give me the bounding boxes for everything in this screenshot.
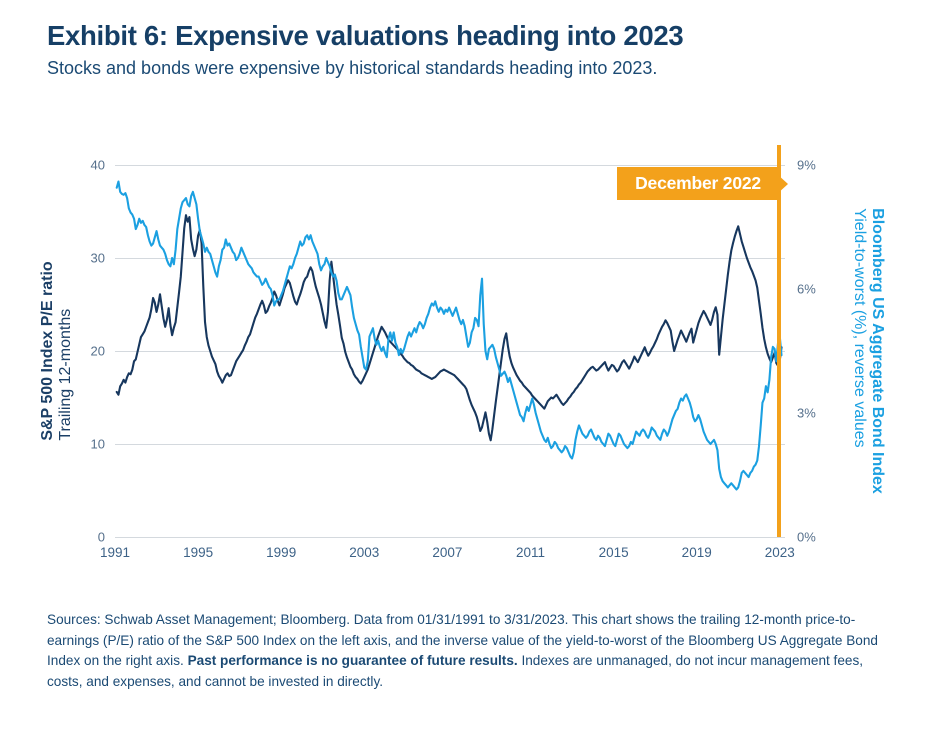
series-lines <box>115 165 785 537</box>
right-axis-tick-label: 6% <box>797 282 816 297</box>
chart-area: S&P 500 Index P/E ratio Trailing 12-mont… <box>0 140 943 580</box>
chart-header: Exhibit 6: Expensive valuations heading … <box>47 20 927 80</box>
right-axis-title-sub: Yield-to-worst (%), reverse values <box>850 208 868 494</box>
left-axis-tick-label: 40 <box>91 158 105 173</box>
page-subtitle: Stocks and bonds were expensive by histo… <box>47 58 927 80</box>
left-axis-tick-label: 10 <box>91 437 105 452</box>
plot-region: 010203040 0%3%6%9% 199119951999200320072… <box>115 165 785 537</box>
x-axis-tick-label: 2019 <box>682 545 712 560</box>
left-axis-tick-label: 0 <box>98 530 105 545</box>
pe-ratio-line <box>117 215 782 440</box>
right-axis-tick-label: 9% <box>797 158 816 173</box>
footnote: Sources: Schwab Asset Management; Bloomb… <box>47 610 900 693</box>
x-axis-tick-label: 2011 <box>516 545 545 560</box>
left-axis-title-bold: S&P 500 Index P/E ratio <box>39 261 57 440</box>
x-axis-tick-label: 1999 <box>266 545 296 560</box>
x-axis-tick-label: 1995 <box>183 545 213 560</box>
right-axis-tick-label: 0% <box>797 530 816 545</box>
page-title: Exhibit 6: Expensive valuations heading … <box>47 20 927 52</box>
gridline <box>115 537 785 538</box>
december-2022-banner-label: December 2022 <box>635 173 761 194</box>
right-axis-title: Bloomberg US Aggregate Bond Index Yield-… <box>845 165 891 537</box>
left-axis-tick-label: 20 <box>91 344 105 359</box>
x-axis-tick-label: 2015 <box>599 545 629 560</box>
december-2022-marker-line <box>777 145 780 537</box>
x-axis-tick-label: 2007 <box>432 545 462 560</box>
right-axis-title-bold: Bloomberg US Aggregate Bond Index <box>868 208 886 494</box>
exhibit-page: Exhibit 6: Expensive valuations heading … <box>0 0 943 733</box>
left-axis-tick-label: 30 <box>91 251 105 266</box>
right-axis-tick-label: 3% <box>797 406 816 421</box>
december-2022-banner: December 2022 <box>617 167 777 200</box>
footnote-bold: Past performance is no guarantee of futu… <box>188 653 518 668</box>
left-axis-title-sub: Trailing 12-months <box>57 261 75 440</box>
x-axis-tick-label: 2023 <box>765 545 795 560</box>
x-axis-tick-label: 2003 <box>349 545 379 560</box>
left-axis-title: S&P 500 Index P/E ratio Trailing 12-mont… <box>34 165 80 537</box>
x-axis-tick-label: 1991 <box>100 545 130 560</box>
yield-to-worst-line <box>117 182 782 490</box>
